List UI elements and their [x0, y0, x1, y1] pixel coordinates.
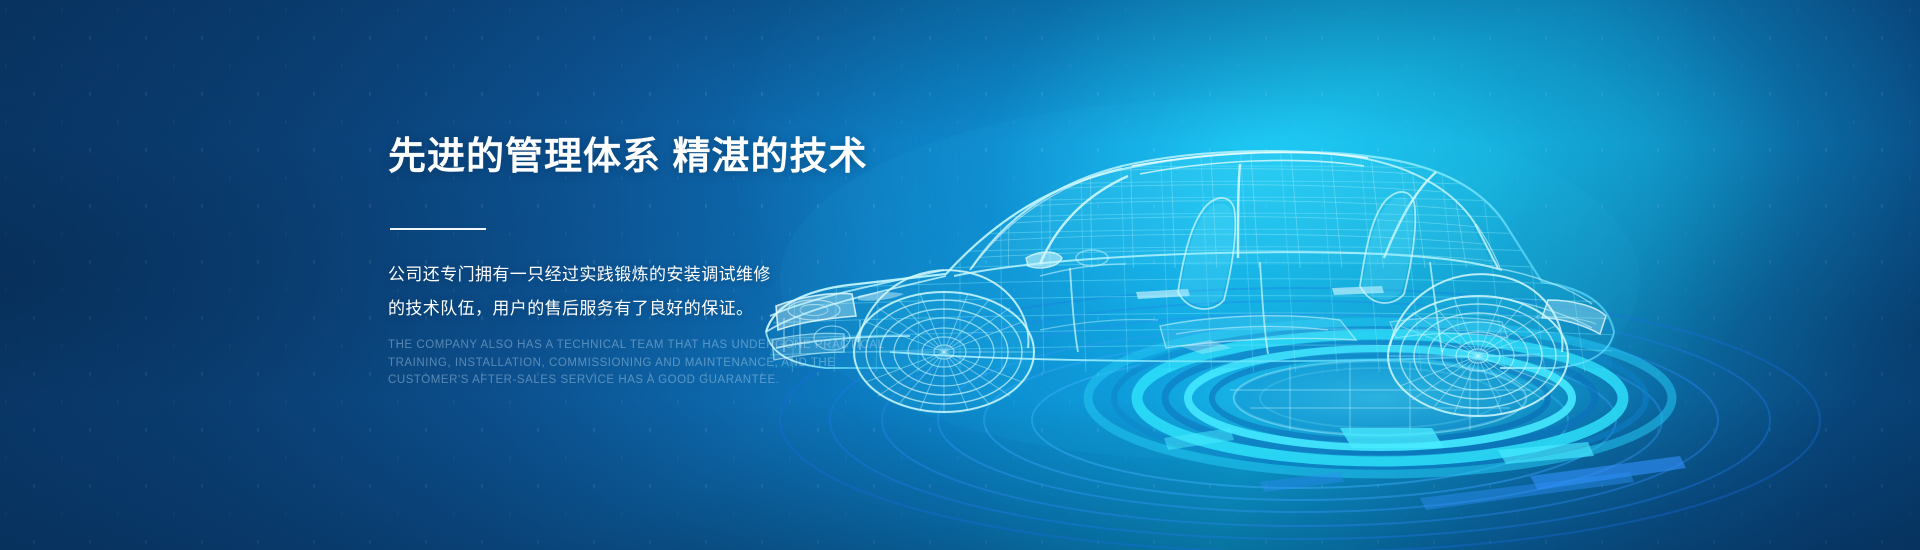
- sub-line-3: CUSTOMER'S AFTER-SALES SERVICE HAS A GOO…: [388, 372, 868, 390]
- subtitle-paragraph-english: THE COMPANY ALSO HAS A TECHNICAL TEAM TH…: [388, 337, 868, 390]
- title-divider: [390, 228, 486, 230]
- lead-line-1: 公司还专门拥有一只经过实践锻炼的安装调试维修: [388, 258, 858, 292]
- hero-banner: 先进的管理体系 精湛的技术 公司还专门拥有一只经过实践锻炼的安装调试维修 的技术…: [0, 0, 1920, 550]
- lead-line-2: 的技术队伍，用户的售后服务有了良好的保证。: [388, 292, 858, 326]
- sub-line-2: TRAINING, INSTALLATION, COMMISSIONING AN…: [388, 355, 868, 373]
- sub-line-1: THE COMPANY ALSO HAS A TECHNICAL TEAM TH…: [388, 337, 868, 355]
- lead-paragraph: 公司还专门拥有一只经过实践锻炼的安装调试维修 的技术队伍，用户的售后服务有了良好…: [388, 258, 858, 326]
- page-title: 先进的管理体系 精湛的技术: [388, 136, 868, 179]
- banner-text-content: 先进的管理体系 精湛的技术 公司还专门拥有一只经过实践锻炼的安装调试维修 的技术…: [388, 0, 1088, 550]
